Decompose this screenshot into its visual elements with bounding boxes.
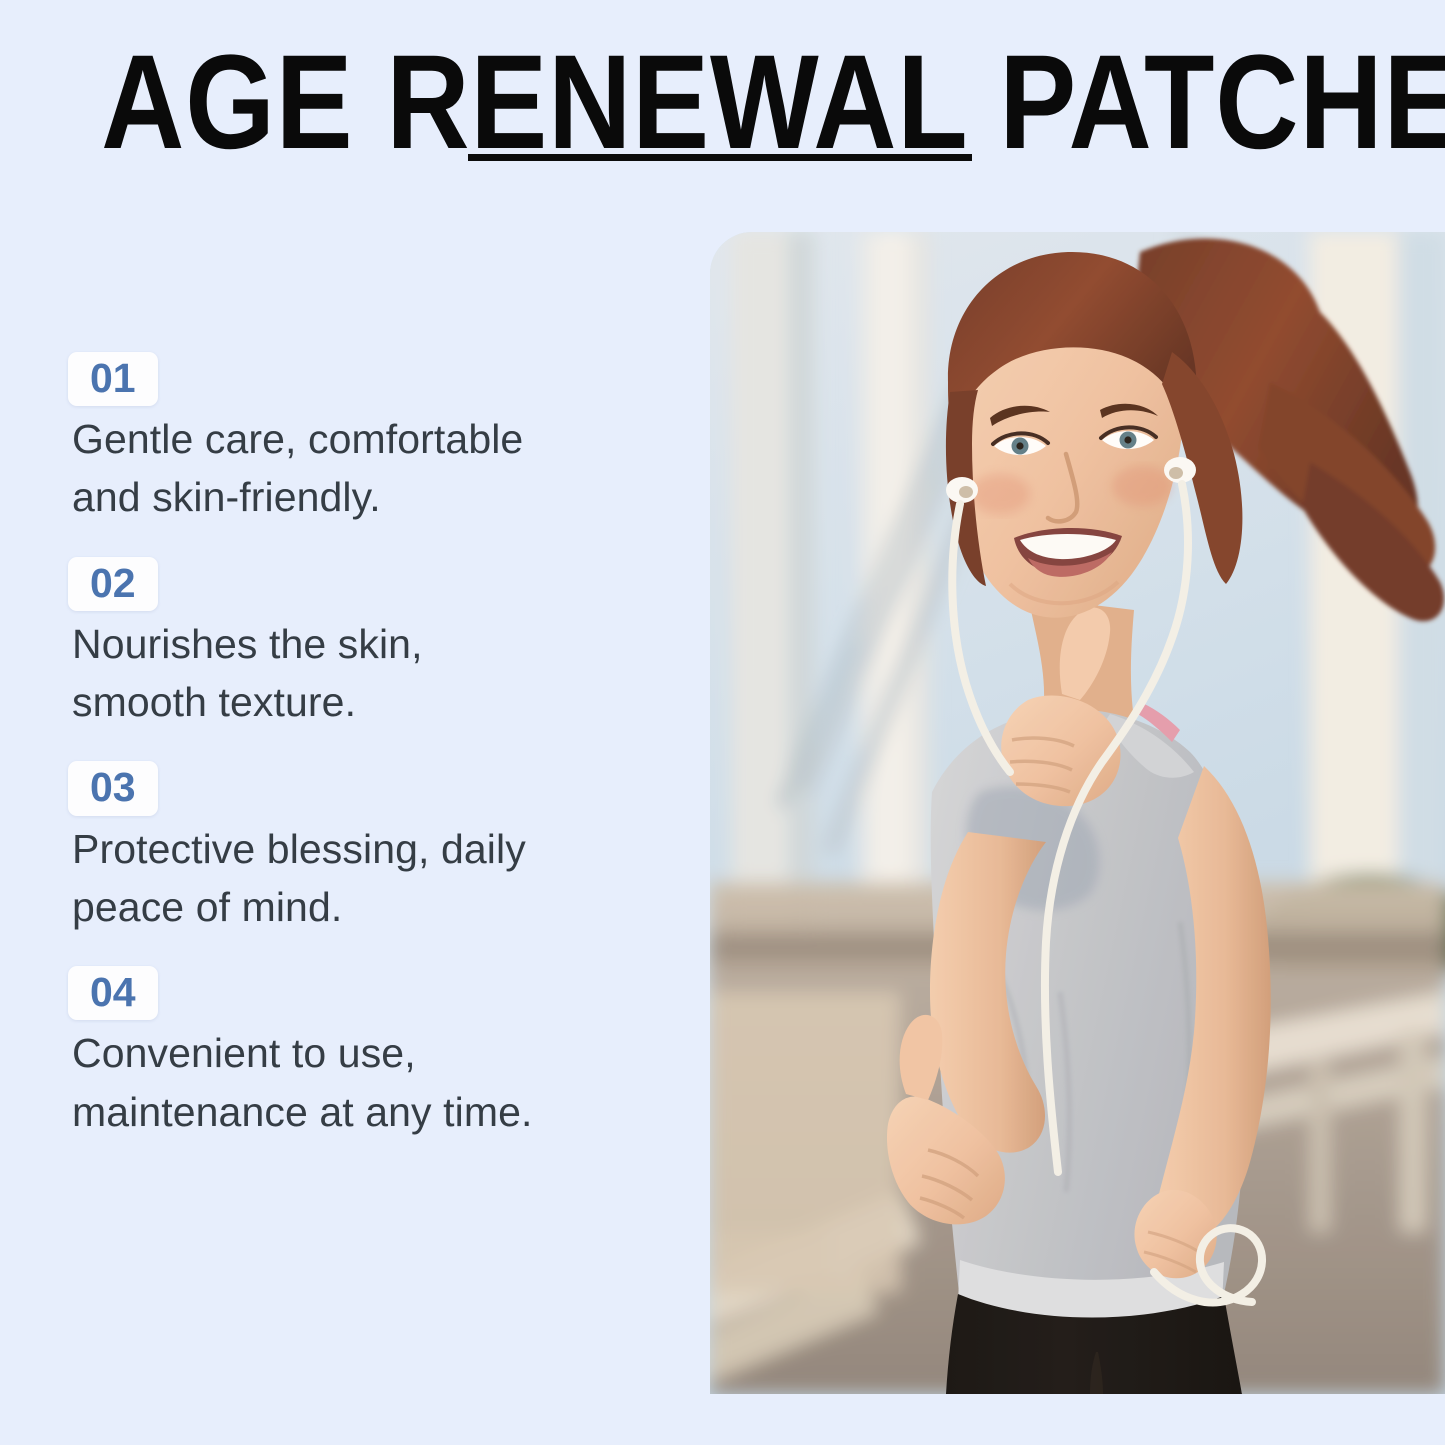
list-item: 01 Gentle care, comfortable and skin-fri… bbox=[68, 352, 628, 527]
feature-number: 03 bbox=[90, 764, 136, 810]
feature-description: Nourishes the skin, smooth texture. bbox=[72, 615, 542, 731]
feature-description: Protective blessing, daily peace of mind… bbox=[72, 820, 542, 936]
page-header: AGE RENEWAL PATCHES bbox=[0, 36, 1445, 170]
poster-root: AGE RENEWAL PATCHES 01 Gentle care, comf… bbox=[0, 0, 1445, 1445]
feature-number: 04 bbox=[90, 969, 136, 1015]
jogging-woman-illustration bbox=[710, 232, 1445, 1394]
feature-number: 01 bbox=[90, 355, 136, 401]
title-underline-divider bbox=[468, 154, 972, 161]
feature-description: Convenient to use, maintenance at any ti… bbox=[72, 1024, 542, 1140]
list-item: 03 Protective blessing, daily peace of m… bbox=[68, 761, 628, 936]
page-title: AGE RENEWAL PATCHES bbox=[101, 36, 1344, 170]
feature-number-badge: 04 bbox=[68, 966, 158, 1020]
feature-number: 02 bbox=[90, 560, 136, 606]
feature-list: 01 Gentle care, comfortable and skin-fri… bbox=[68, 352, 628, 1141]
feature-number-badge: 03 bbox=[68, 761, 158, 815]
feature-number-badge: 02 bbox=[68, 557, 158, 611]
list-item: 04 Convenient to use, maintenance at any… bbox=[68, 966, 628, 1141]
lifestyle-photo bbox=[710, 232, 1445, 1394]
feature-description: Gentle care, comfortable and skin-friend… bbox=[72, 410, 542, 526]
list-item: 02 Nourishes the skin, smooth texture. bbox=[68, 557, 628, 732]
feature-number-badge: 01 bbox=[68, 352, 158, 406]
